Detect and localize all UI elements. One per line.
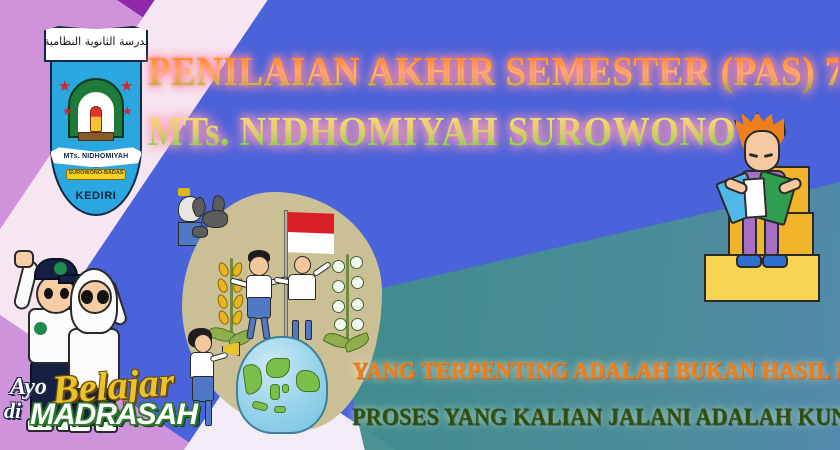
star-icon: ★ xyxy=(58,80,71,94)
indonesia-flag-icon xyxy=(288,232,334,254)
student-icon xyxy=(247,297,271,319)
motto-line-2: PROSES YANG KALIAN JALANI ADALAH KUNCINY… xyxy=(352,398,838,435)
student-hijab-icon xyxy=(288,274,316,300)
student-megaphone-icon xyxy=(194,334,212,353)
cap-patch-icon xyxy=(54,262,67,275)
madrasah-ayo-label: Ayo xyxy=(10,374,47,401)
boy-leg-icon xyxy=(742,214,757,258)
school-logo: ★ ★ ★ ★ المدرسة الثانوية النظامية MTs. N… xyxy=(44,22,148,222)
bird-beak-icon xyxy=(178,188,190,196)
city-label: KEDIRI xyxy=(50,190,142,202)
map-island-icon xyxy=(274,406,286,413)
boy-fist-icon xyxy=(14,250,34,268)
yellow-band-label: SUROWONO-BADAS xyxy=(66,170,126,176)
madrasah-madrasah-label: MADRASAH xyxy=(30,398,197,432)
garuda-bird-icon xyxy=(192,226,208,238)
flame-icon xyxy=(90,106,102,132)
motto-block: YANG TERPENTING ADALAH BUKAN HASIL NAMUN… xyxy=(352,352,838,432)
student-hijab-icon xyxy=(294,256,311,274)
motto-line-1: YANG TERPENTING ADALAH BUKAN HASIL NAMUN xyxy=(352,352,838,389)
boy-head-icon xyxy=(744,130,780,172)
boy-shoe-icon xyxy=(736,254,762,268)
star-icon: ★ xyxy=(120,80,133,94)
rice-stalk-icon xyxy=(214,258,248,348)
arabic-banner-text: المدرسة الثانوية النظامية xyxy=(44,35,148,48)
student-hijab-icon xyxy=(305,320,312,340)
madrasah-logo: Belajar Ayo MADRASAH di xyxy=(2,246,144,450)
ribbon-label: MTs. NIDHOMIYAH xyxy=(50,153,142,160)
girl-eye-icon xyxy=(97,290,109,304)
madrasah-di-label: di xyxy=(4,398,21,424)
cotton-stalk-icon xyxy=(328,254,368,350)
boy-shoe-icon xyxy=(762,254,788,268)
boy-eye-icon xyxy=(44,288,53,299)
student-megaphone-icon xyxy=(205,400,212,426)
map-island-icon xyxy=(270,384,280,400)
star-icon: ★ xyxy=(62,104,73,118)
star-icon: ★ xyxy=(122,104,133,118)
boy-reading-book-on-stairs-icon xyxy=(700,108,840,320)
map-island-icon xyxy=(282,384,289,393)
page-title-line-1: PENILAIAN AKHIR SEMESTER (PAS) 7,8 & 9 xyxy=(148,48,838,97)
banner-poster: ★ ★ ★ ★ المدرسة الثانوية النظامية MTs. N… xyxy=(0,0,840,450)
indonesia-flag-icon xyxy=(288,212,334,234)
uniform-badge-icon xyxy=(34,322,47,335)
girl-eye-icon xyxy=(81,290,93,304)
student-icon xyxy=(249,256,269,276)
garuda-bird-icon xyxy=(202,210,228,228)
boy-eye-icon xyxy=(60,288,69,299)
book-base-icon xyxy=(78,132,114,141)
student-icon xyxy=(246,275,272,299)
